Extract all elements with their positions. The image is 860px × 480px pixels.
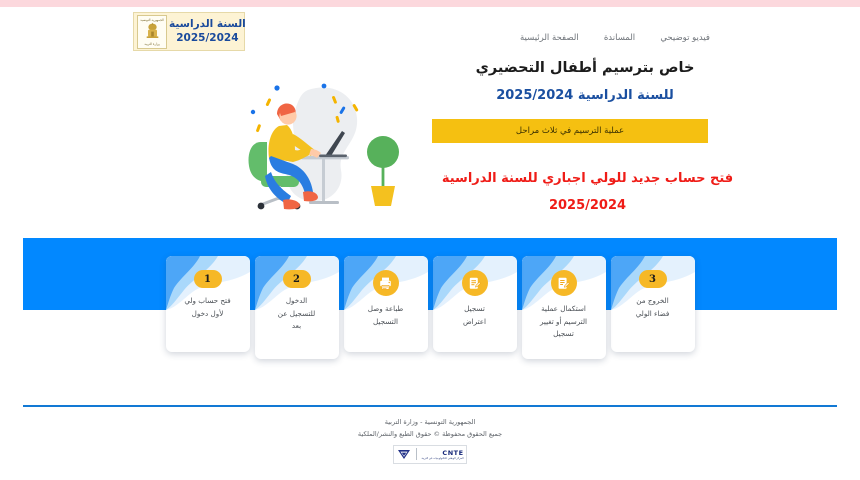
- step-card-objection[interactable]: تسجيل اعتراض: [433, 256, 517, 352]
- printer-icon: [373, 270, 399, 296]
- footer-divider: [23, 405, 837, 407]
- card-content: 1 فتح حساب ولي لأول دخول: [166, 256, 250, 320]
- footer-line-1: الجمهورية التونسية - وزارة التربية: [0, 416, 860, 428]
- hero-text-block: خاص بترسيم أطفال التحضيري للسنة الدراسية…: [420, 58, 750, 103]
- step-label: تسجيل اعتراض: [438, 303, 512, 328]
- site-header: الجمهورية التونسية وزارة التربية السنة ا…: [0, 7, 860, 55]
- card-content: تسجيل اعتراض: [433, 256, 517, 328]
- emblem-bottom-text: وزارة التربية: [138, 42, 166, 46]
- page-title: خاص بترسيم أطفال التحضيري: [420, 58, 750, 80]
- ministry-logo[interactable]: الجمهورية التونسية وزارة التربية السنة ا…: [133, 12, 245, 51]
- step-card-create-account[interactable]: 1 فتح حساب ولي لأول دخول: [166, 256, 250, 352]
- footer-line-2: جميع الحقوق محفوظة © حقوق الطبع والنشر/ا…: [0, 428, 860, 440]
- step-label: استكمال عملية الترسيم أو تغيير تسجيل: [527, 303, 601, 341]
- cnte-emblem-icon: [396, 448, 412, 461]
- step-badge: 2: [283, 270, 311, 288]
- card-content: استكمال عملية الترسيم أو تغيير تسجيل: [522, 256, 606, 341]
- card-content: 2 الدخول للتسجيل عن بعد: [255, 256, 339, 333]
- card-content: 3 الخروج من فضاء الولي: [611, 256, 695, 320]
- nav-item-video[interactable]: فيديو توضيحي: [660, 33, 710, 43]
- nav-item-support[interactable]: المساندة: [604, 33, 635, 43]
- cnte-logo-sub: المركز الوطني للتكنولوجيات في التربية: [421, 457, 463, 460]
- nav-item-home[interactable]: الصفحة الرئيسية: [520, 33, 579, 43]
- cnte-logo-name: CNTE: [442, 449, 463, 457]
- page-root: الجمهورية التونسية وزارة التربية السنة ا…: [0, 0, 860, 480]
- cnte-logo[interactable]: CNTE المركز الوطني للتكنولوجيات في الترب…: [393, 445, 467, 464]
- cnte-logo-text: CNTE المركز الوطني للتكنولوجيات في الترب…: [421, 449, 463, 460]
- step-badge: 1: [194, 270, 222, 288]
- main-navigation: فيديو توضيحي المساندة الصفحة الرئيسية: [520, 29, 710, 47]
- top-accent-strip: [0, 0, 860, 7]
- alert-line-1: فتح حساب جديد للولي اجباري للسنة الدراسي…: [415, 170, 760, 188]
- alert-line-2: 2025/2024: [415, 198, 760, 213]
- step-card-print-receipt[interactable]: طباعة وصل التسجيل: [344, 256, 428, 352]
- three-stages-banner-label: عملية الترسيم في ثلاث مراحل: [516, 126, 624, 136]
- edit-document-icon: [551, 270, 577, 296]
- three-stages-banner[interactable]: عملية الترسيم في ثلاث مراحل: [432, 119, 708, 143]
- steps-blue-band: [23, 238, 837, 310]
- hero-illustration: [205, 72, 420, 237]
- card-content: طباعة وصل التسجيل: [344, 256, 428, 328]
- cnte-logo-separator: [416, 448, 417, 460]
- mandatory-account-alert: فتح حساب جديد للولي اجباري للسنة الدراسي…: [415, 170, 760, 213]
- logo-text-block: السنة الدراسية 2025/2024: [167, 18, 248, 44]
- step-label: الدخول للتسجيل عن بعد: [260, 295, 334, 333]
- ministry-emblem-icon: الجمهورية التونسية وزارة التربية: [137, 15, 167, 49]
- step-card-exit[interactable]: 3 الخروج من فضاء الولي: [611, 256, 695, 352]
- step-card-remote-login[interactable]: 2 الدخول للتسجيل عن بعد: [255, 256, 339, 359]
- emblem-top-text: الجمهورية التونسية: [138, 18, 166, 22]
- page-subtitle: للسنة الدراسية 2025/2024: [420, 88, 750, 103]
- step-label: الخروج من فضاء الولي: [616, 295, 690, 320]
- step-label: فتح حساب ولي لأول دخول: [171, 295, 245, 320]
- step-badge: 3: [639, 270, 667, 288]
- step-card-complete-or-change[interactable]: استكمال عملية الترسيم أو تغيير تسجيل: [522, 256, 606, 359]
- objection-icon: [462, 270, 488, 296]
- step-label: طباعة وصل التسجيل: [349, 303, 423, 328]
- site-footer: الجمهورية التونسية - وزارة التربية جميع …: [0, 416, 860, 464]
- logo-line-1: السنة الدراسية: [169, 18, 246, 31]
- logo-line-2: 2025/2024: [169, 32, 246, 45]
